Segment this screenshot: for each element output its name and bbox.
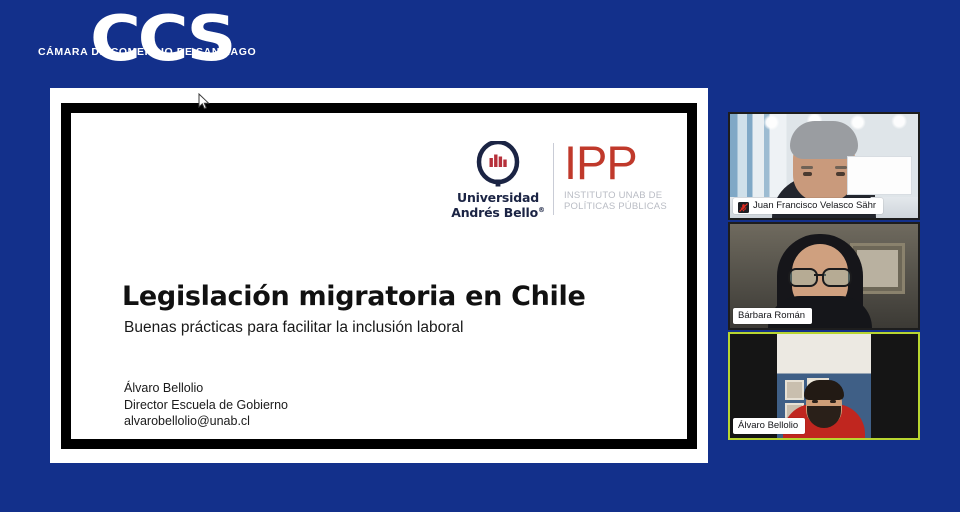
slide-title: Legislación migratoria en Chile <box>122 281 585 313</box>
video-person-glasses <box>788 268 852 283</box>
ccs-logo-wordmark: CÁMARA DE COMERCIO DE SANTIAGO <box>38 46 256 58</box>
slide-author-email: alvarobellolio@unab.cl <box>124 413 288 430</box>
video-bg-picture-frame <box>785 380 804 401</box>
presentation-slide: Universidad Andrés Bello® IPP INSTITUTO … <box>71 113 687 439</box>
unab-name-line1: Universidad <box>457 190 539 205</box>
participant-name-chip: Bárbara Román <box>733 308 812 324</box>
participant-tile-active-speaker[interactable]: Álvaro Bellolio <box>728 332 920 440</box>
ipp-logo-subtitle: INSTITUTO UNAB DE POLÍTICAS PÚBLICAS <box>564 190 667 212</box>
video-person-brow <box>801 166 813 169</box>
video-person-hair <box>790 121 858 159</box>
participant-name-label: Álvaro Bellolio <box>738 420 798 431</box>
ipp-logo: IPP INSTITUTO UNAB DE POLÍTICAS PÚBLICAS <box>564 141 676 212</box>
video-person-hair <box>804 380 844 400</box>
video-person-eye <box>830 400 836 403</box>
slide-subtitle: Buenas prácticas para facilitar la inclu… <box>124 318 463 338</box>
ccs-logo-mark: CCS <box>90 8 233 70</box>
unab-logo: Universidad Andrés Bello® <box>453 141 543 219</box>
ipp-sub-line2: POLÍTICAS PÚBLICAS <box>564 201 667 212</box>
participant-name-chip: Juan Francisco Velasco Sähr <box>733 198 883 214</box>
slide-author-block: Álvaro Bellolio Director Escuela de Gobi… <box>124 380 288 430</box>
participant-tile[interactable]: Juan Francisco Velasco Sähr <box>728 112 920 220</box>
ipp-logo-mark: IPP <box>564 141 637 185</box>
video-person-eye <box>803 172 812 176</box>
video-person-eye <box>836 172 845 176</box>
shared-screen-frame[interactable]: Universidad Andrés Bello® IPP INSTITUTO … <box>50 88 708 463</box>
ccs-logo: CCS CÁMARA DE COMERCIO DE SANTIAGO <box>38 8 268 80</box>
participant-video-strip: Juan Francisco Velasco Sähr Bárbara Romá… <box>728 112 920 444</box>
slide-author-name: Álvaro Bellolio <box>124 380 288 397</box>
participant-name-label: Bárbara Román <box>738 310 805 321</box>
unab-logo-text: Universidad Andrés Bello® <box>451 191 545 219</box>
ipp-sub-line1: INSTITUTO UNAB DE <box>564 190 662 201</box>
mic-muted-icon <box>738 200 749 211</box>
slide-logo-row: Universidad Andrés Bello® IPP INSTITUTO … <box>453 141 676 219</box>
logo-divider <box>553 143 554 215</box>
video-person-brow <box>835 166 847 169</box>
participant-tile[interactable]: Bárbara Román <box>728 222 920 330</box>
slide-author-role: Director Escuela de Gobierno <box>124 397 288 414</box>
unab-logo-icon <box>476 141 520 187</box>
participant-name-label: Juan Francisco Velasco Sähr <box>753 200 876 211</box>
participant-name-chip: Álvaro Bellolio <box>733 418 805 434</box>
slide-letterbox: Universidad Andrés Bello® IPP INSTITUTO … <box>61 103 697 449</box>
video-person-eye <box>812 400 818 403</box>
unab-name-line2: Andrés Bello <box>451 205 538 220</box>
unab-registered-mark: ® <box>538 206 545 214</box>
meeting-stage: CCS CÁMARA DE COMERCIO DE SANTIAGO <box>0 0 960 512</box>
